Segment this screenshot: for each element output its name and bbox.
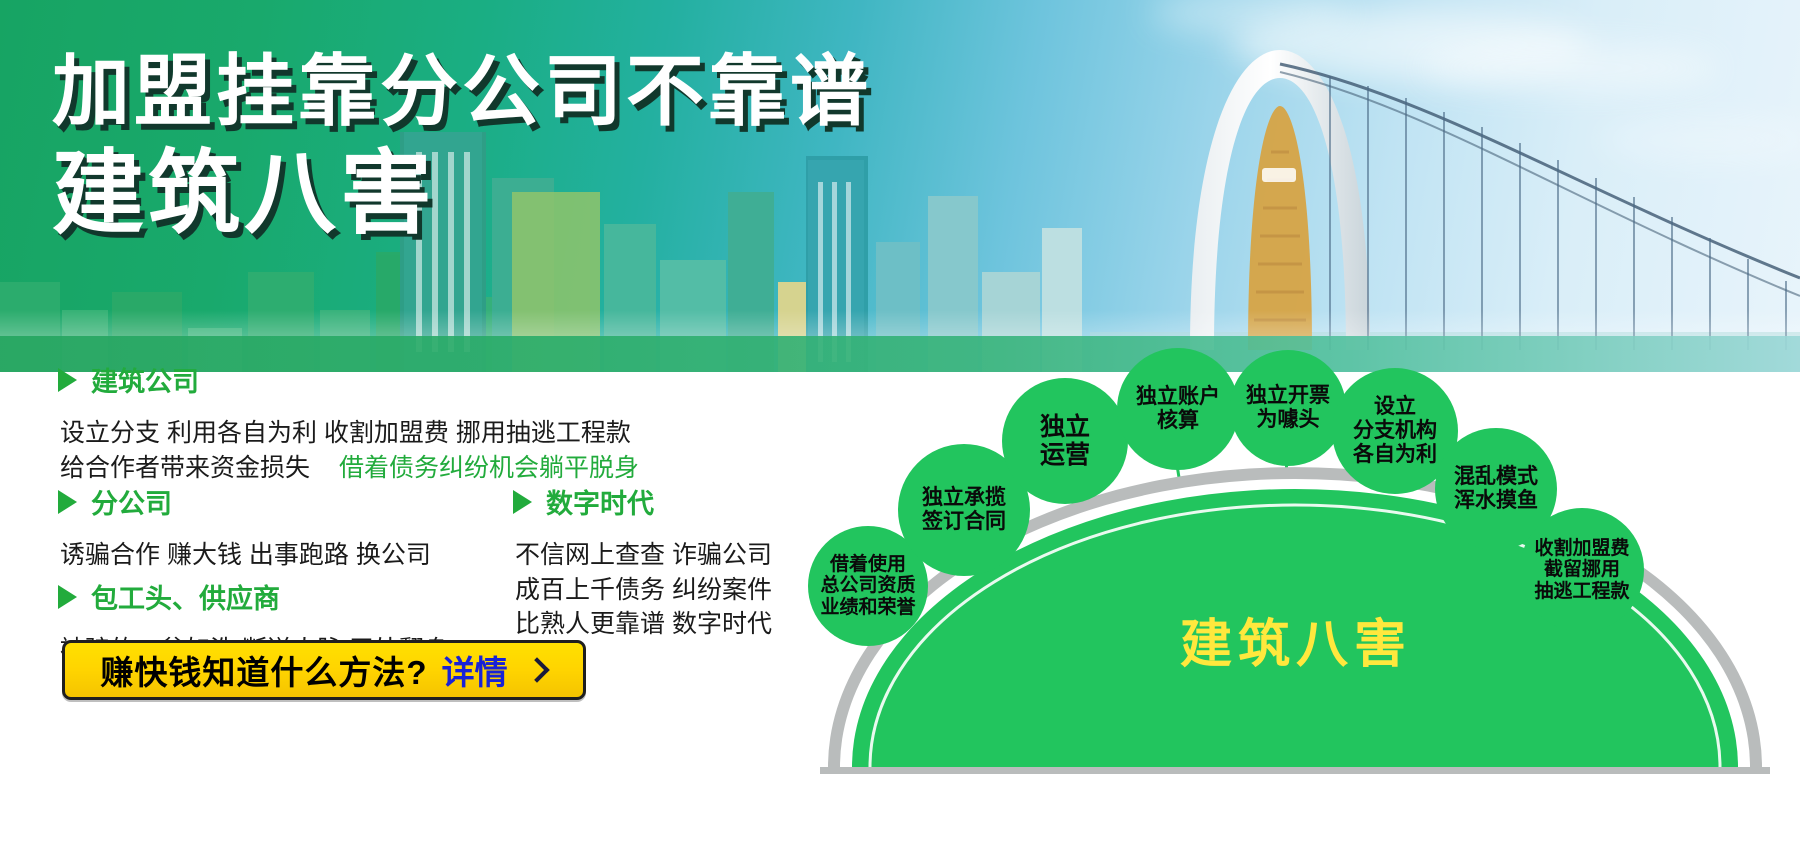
body-text: 比熟人更靠谱 数字时代 <box>515 610 772 638</box>
hero-gradient-fade <box>0 310 1800 336</box>
section-heading-branch-company: 分公司 <box>58 482 431 521</box>
section-heading-contractor-supplier: 包工头、供应商 <box>58 577 449 616</box>
cta-details-button[interactable]: 赚快钱知道什么方法? 详情 <box>62 640 586 700</box>
bubble-node-3[interactable]: 独立 运营 <box>1002 378 1128 504</box>
cta-main-label: 赚快钱知道什么方法? <box>100 646 427 694</box>
bubble-label: 独立 运营 <box>1040 413 1090 470</box>
hero-title-line-2: 建筑八害 <box>52 148 872 240</box>
bubble-label: 设立 分支机构 各自为利 <box>1353 395 1437 467</box>
bubble-label: 收割加盟费 截留挪用 抽逃工程款 <box>1534 538 1629 603</box>
bubble-label: 独立开票 为噱头 <box>1246 384 1330 432</box>
triangle-bullet-icon <box>58 490 77 514</box>
section-body-line: 给合作者带来资金损失 借着债务纠纷机会躺平脱身 <box>60 451 639 486</box>
left-content-panel: 建筑公司 设立分支 利用各自为利 收割加盟费 挪用抽逃工程款 给合作者带来资金损… <box>0 372 900 844</box>
section-construction-company: 建筑公司 设立分支 利用各自为利 收割加盟费 挪用抽逃工程款 给合作者带来资金损… <box>58 360 639 485</box>
bubble-label: 借着使用 总公司资质 业绩和荣誉 <box>820 554 915 619</box>
hero-title-line-1: 加盟挂靠分公司不靠谱 <box>52 52 872 130</box>
section-body-line: 比熟人更靠谱 数字时代 <box>515 607 772 642</box>
section-body-line: 不信网上查查 诈骗公司 <box>515 538 772 573</box>
body-text: 诱骗合作 赚大钱 出事跑路 换公司 <box>60 541 431 569</box>
body-text-accent: 借着债务纠纷机会躺平脱身 <box>339 454 639 482</box>
triangle-bullet-icon <box>58 368 77 392</box>
bubble-dome-diagram: 建筑八害 借着使用 总公司资质 业绩和荣誉 独立承揽 签订合同 独立 运营 独立… <box>790 340 1800 844</box>
body-text: 设立分支 利用各自为利 收割加盟费 挪用抽逃工程款 <box>60 419 631 447</box>
bubble-label: 混乱模式 浑水摸鱼 <box>1454 465 1538 513</box>
body-text: 成百上千债务 纠纷案件 <box>515 576 772 604</box>
section-body-line: 成百上千债务 纠纷案件 <box>515 573 772 608</box>
hero-banner: 加盟挂靠分公司不靠谱 建筑八害 <box>0 0 1800 372</box>
bridge-illustration <box>1150 20 1800 350</box>
section-branch-company: 分公司 诱骗合作 赚大钱 出事跑路 换公司 <box>58 482 431 573</box>
section-body-line: 设立分支 利用各自为利 收割加盟费 挪用抽逃工程款 <box>60 416 639 451</box>
section-heading-label: 分公司 <box>91 482 172 521</box>
bubble-label: 独立承揽 签订合同 <box>922 486 1006 534</box>
section-heading-label: 建筑公司 <box>91 360 199 399</box>
section-body-line: 诱骗合作 赚大钱 出事跑路 换公司 <box>60 538 431 573</box>
body-text: 给合作者带来资金损失 <box>60 454 310 482</box>
bubble-node-5[interactable]: 独立开票 为噱头 <box>1230 350 1346 466</box>
bubble-node-4[interactable]: 独立账户 核算 <box>1117 348 1239 470</box>
section-heading-label: 包工头、供应商 <box>91 577 280 616</box>
triangle-bullet-icon <box>58 585 77 609</box>
chevron-right-icon <box>524 657 549 682</box>
section-heading-digital-age: 数字时代 <box>513 482 772 521</box>
bubble-node-8[interactable]: 收割加盟费 截留挪用 抽逃工程款 <box>1520 508 1644 632</box>
triangle-bullet-icon <box>513 490 532 514</box>
bubble-label: 独立账户 核算 <box>1136 385 1220 433</box>
hero-title: 加盟挂靠分公司不靠谱 建筑八害 <box>52 52 872 240</box>
dome-center-label: 建筑八害 <box>996 602 1596 677</box>
section-heading-label: 数字时代 <box>546 482 654 521</box>
cta-link-label: 详情 <box>442 646 508 694</box>
section-digital-age: 数字时代 不信网上查查 诈骗公司 成百上千债务 纠纷案件 比熟人更靠谱 数字时代 <box>513 482 772 642</box>
section-heading-construction-company: 建筑公司 <box>58 360 639 399</box>
body-text: 不信网上查查 诈骗公司 <box>515 541 772 569</box>
